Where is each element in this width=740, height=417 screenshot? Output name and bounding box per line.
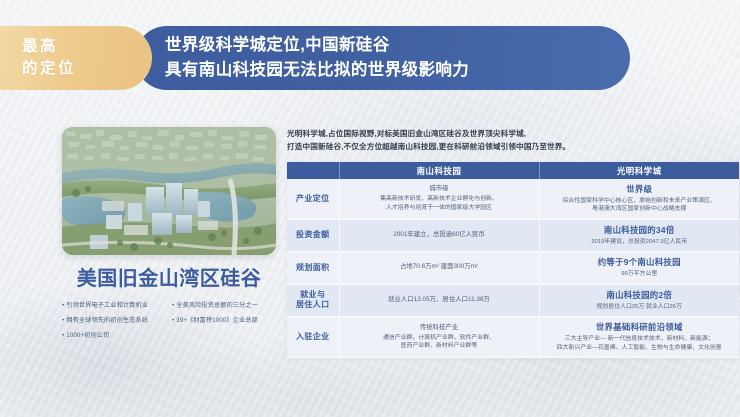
table-body: 产业定位 城市级 集高新技术研发、高新技术企业孵化与创新、 人才培养与培育于一体… bbox=[287, 179, 739, 358]
cell-detail: 三大主导产业— 新一代信息技术技术、新材料、新能源； 四大新兴产业—石墨烯、人工… bbox=[544, 335, 736, 352]
row-label-planned-area: 规划面积 bbox=[287, 252, 339, 284]
comparison-table: 南山科技园 光明科学城 产业定位 城市级 集高新技术研发、高新技术企业孵化与创新… bbox=[287, 162, 739, 358]
cell-headline: 世界基础科研前沿领域 bbox=[544, 322, 736, 334]
cell-headline: 世界级 bbox=[544, 184, 736, 196]
cell-detail: 2001年建立，总投逾60亿人民币 bbox=[344, 231, 535, 240]
cell-detail: 集高新技术研发、高新技术企业孵化与创新、 人才培养与培育于一体的国家级大学园区 bbox=[344, 195, 535, 212]
intro-line-1: 光明科学城,占位国际视野,对标美国旧金山湾区硅谷及世界顶尖科学城, bbox=[287, 127, 739, 140]
banner-tag: 最高 的定位 bbox=[0, 26, 152, 90]
cell-detail-line: 三大主导产业— 新一代信息技术技术、新材料、新能源； bbox=[544, 335, 736, 344]
cell-detail-line: 人才培养与培育于一体的国家级大学园区 bbox=[344, 204, 535, 213]
cell-nanshan-industry: 城市级 集高新技术研发、高新技术企业孵化与创新、 人才培养与培育于一体的国家级大… bbox=[339, 179, 539, 219]
cell-nanshan-investment: 2001年建立，总投逾60亿人民币 bbox=[339, 219, 539, 251]
table-header-guangming: 光明科学城 bbox=[539, 162, 739, 179]
cell-detail-line: 四大新兴产业—石墨烯、人工智能、生物与生命健康、文化创意 bbox=[544, 344, 736, 353]
cell-nanshan-population: 就业人口13.05万、居住人口11.38万 bbox=[339, 284, 539, 317]
cell-headline: 约等于9个南山科技园 bbox=[544, 257, 736, 269]
cell-guangming-area: 约等于9个南山科技园 99万平方公里 bbox=[539, 252, 739, 284]
aerial-photo-illustration bbox=[62, 127, 276, 255]
cell-guangming-industry: 世界级 综合性国家科学中心核心区、原始创新和未来产业策源区、 粤港澳大湾区国家创… bbox=[539, 179, 739, 219]
cell-detail: 综合性国家科学中心核心区、原始创新和未来产业策源区、 粤港澳大湾区国家创新中心战… bbox=[544, 197, 736, 214]
cell-detail-line: 集高新技术研发、高新技术企业孵化与创新、 bbox=[344, 195, 535, 204]
banner-tag-line1: 最高 bbox=[22, 36, 152, 58]
table-row: 产业定位 城市级 集高新技术研发、高新技术企业孵化与创新、 人才培养与培育于一体… bbox=[287, 179, 739, 219]
bullet-dot-icon: • bbox=[172, 317, 174, 325]
row-label-investment: 投资金额 bbox=[287, 219, 339, 251]
banner-title-line1: 世界级科学城定位,中国新硅谷 bbox=[165, 33, 630, 58]
cell-headline: 传统科技产业 bbox=[344, 324, 535, 333]
table-row: 规划面积 占地70.6万m² 建面300万m² 约等于9个南山科技园 99万平方… bbox=[287, 252, 739, 284]
slide-root: 世界级科学城定位,中国新硅谷 具有南山科技园无法比拟的世界级影响力 最高 的定位 bbox=[0, 0, 740, 417]
list-item: •39+《财富榜1000》企业总部 bbox=[172, 317, 276, 325]
cell-detail-line: 规划居住人口25万 就业人口26万 bbox=[544, 303, 736, 312]
bullet-dot-icon: • bbox=[62, 332, 64, 340]
table-header-row: 南山科技园 光明科学城 bbox=[287, 162, 739, 179]
cell-detail: 就业人口13.05万、居住人口11.38万 bbox=[344, 296, 535, 305]
table-row: 就业与居住人口 就业人口13.05万、居住人口11.38万 南山科技园的2倍 规… bbox=[287, 284, 739, 317]
silicon-valley-photo bbox=[62, 127, 276, 255]
banner-title-line2: 具有南山科技园无法比拟的世界级影响力 bbox=[165, 58, 630, 83]
bullet-text: 拥有全球领先的初创生态系统 bbox=[66, 317, 148, 325]
cell-guangming-investment: 南山科技园的34倍 2019年建设，总投资2047.3亿人民币 bbox=[539, 219, 739, 251]
table-row: 入驻企业 传统科技产业 通信产业群、计算机产业群、软件产业群、 医药产业群、新材… bbox=[287, 317, 739, 358]
fact-bullet-list: •引领世界电子工业和计算机业 •全美风险投资总额的三分之一 •拥有全球领先的初创… bbox=[62, 302, 276, 339]
cell-detail-line: 2019年建设，总投资2047.3亿人民币 bbox=[544, 238, 736, 247]
banner-title-bar: 世界级科学城定位,中国新硅谷 具有南山科技园无法比拟的世界级影响力 bbox=[135, 26, 630, 90]
bullet-dot-icon: • bbox=[172, 302, 174, 310]
bullet-text: 引领世界电子工业和计算机业 bbox=[66, 302, 148, 310]
table-header-nanshan: 南山科技园 bbox=[339, 162, 539, 179]
bullet-dot-icon: • bbox=[62, 317, 64, 325]
cell-detail-line: 综合性国家科学中心核心区、原始创新和未来产业策源区、 bbox=[544, 197, 736, 206]
cell-detail-line: 粤港澳大湾区国家创新中心战略支撑 bbox=[544, 205, 736, 214]
cell-detail: 占地70.6万m² 建面300万m² bbox=[344, 263, 535, 272]
cell-headline: 南山科技园的34倍 bbox=[544, 225, 736, 237]
cell-nanshan-area: 占地70.6万m² 建面300万m² bbox=[339, 252, 539, 284]
bullet-text: 39+《财富榜1000》企业总部 bbox=[176, 317, 258, 325]
cell-detail: 规划居住人口25万 就业人口26万 bbox=[544, 303, 736, 312]
photo-caption: 美国旧金山湾区硅谷 bbox=[62, 267, 276, 291]
list-item: •引领世界电子工业和计算机业 bbox=[62, 302, 172, 310]
list-item: •拥有全球领先的初创生态系统 bbox=[62, 317, 172, 325]
left-column: 美国旧金山湾区硅谷 •引领世界电子工业和计算机业 •全美风险投资总额的三分之一 … bbox=[62, 127, 276, 339]
cell-detail-line: 99万平方公里 bbox=[544, 270, 736, 279]
intro-paragraph: 光明科学城,占位国际视野,对标美国旧金山湾区硅谷及世界顶尖科学城, 打造中国新硅… bbox=[287, 127, 739, 153]
cell-nanshan-enterprises: 传统科技产业 通信产业群、计算机产业群、软件产业群、 医药产业群、新材料产业群等 bbox=[339, 317, 539, 358]
bullet-text: 全美风险投资总额的三分之一 bbox=[176, 302, 258, 310]
cell-detail: 99万平方公里 bbox=[544, 270, 736, 279]
cell-guangming-population: 南山科技园的2倍 规划居住人口25万 就业人口26万 bbox=[539, 284, 739, 317]
intro-line-2: 打造中国新硅谷,不仅全方位超越南山科技园,更在科研前沿领域引领中国乃至世界。 bbox=[287, 140, 739, 153]
header-banner: 世界级科学城定位,中国新硅谷 具有南山科技园无法比拟的世界级影响力 最高 的定位 bbox=[0, 26, 630, 90]
list-item: •1000+初创公司 bbox=[62, 332, 172, 340]
cell-headline: 城市级 bbox=[344, 185, 535, 194]
bullet-dot-icon: • bbox=[62, 302, 64, 310]
banner-tag-line2: 的定位 bbox=[22, 58, 152, 80]
row-label-resident-enterprises: 入驻企业 bbox=[287, 317, 339, 358]
cell-headline: 南山科技园的2倍 bbox=[544, 290, 736, 302]
list-item: •全美风险投资总额的三分之一 bbox=[172, 302, 276, 310]
table-row: 投资金额 2001年建立，总投逾60亿人民币 南山科技园的34倍 2019年建设… bbox=[287, 219, 739, 251]
row-label-employment-population: 就业与居住人口 bbox=[287, 284, 339, 317]
table-header: 南山科技园 光明科学城 bbox=[287, 162, 739, 179]
cell-detail: 通信产业群、计算机产业群、软件产业群、 医药产业群、新材料产业群等 bbox=[344, 334, 535, 351]
cell-detail-line: 通信产业群、计算机产业群、软件产业群、 bbox=[344, 334, 535, 343]
bullet-text: 1000+初创公司 bbox=[66, 332, 109, 340]
row-label-industry-position: 产业定位 bbox=[287, 179, 339, 219]
right-column: 光明科学城,占位国际视野,对标美国旧金山湾区硅谷及世界顶尖科学城, 打造中国新硅… bbox=[287, 127, 739, 358]
cell-guangming-enterprises: 世界基础科研前沿领域 三大主导产业— 新一代信息技术技术、新材料、新能源； 四大… bbox=[539, 317, 739, 358]
cell-detail-line: 医药产业群、新材料产业群等 bbox=[344, 342, 535, 351]
cell-detail: 2019年建设，总投资2047.3亿人民币 bbox=[544, 238, 736, 247]
table-header-blank bbox=[287, 162, 339, 179]
